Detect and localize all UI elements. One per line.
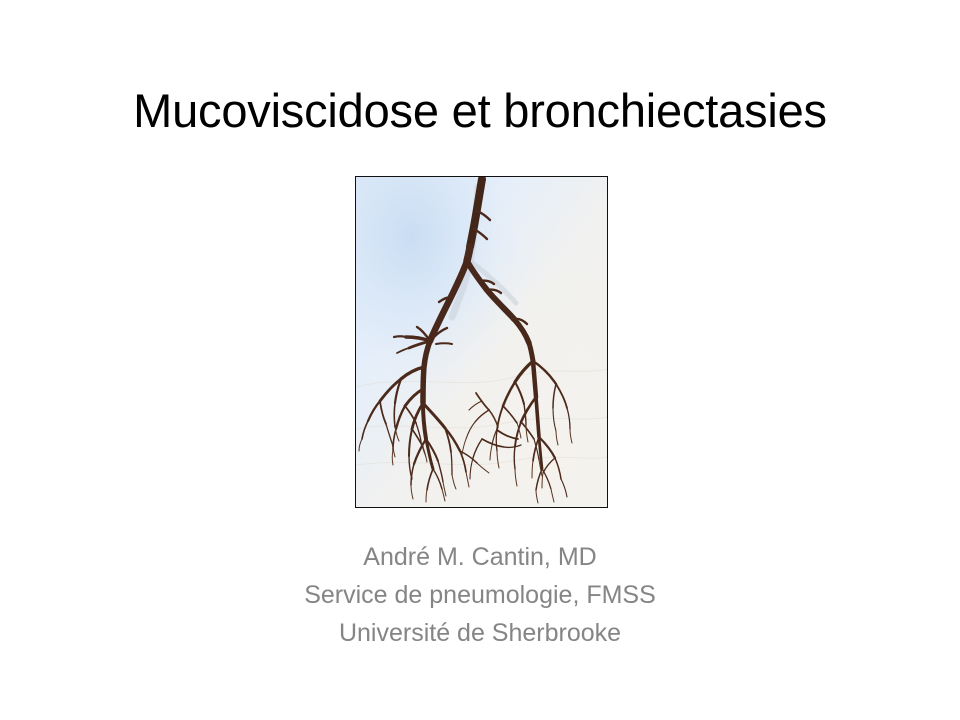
subtitle-line-department: Service de pneumologie, FMSS [80,576,880,614]
subtitle-block: André M. Cantin, MD Service de pneumolog… [80,538,880,652]
title-slide: Mucoviscidose et bronchiectasies [0,0,960,720]
subtitle-line-institution: Université de Sherbrooke [80,614,880,652]
bronchial-tree-illustration [356,177,607,507]
bronchial-tree-cast-photo [355,176,608,508]
page-title: Mucoviscidose et bronchiectasies [60,82,900,140]
subtitle-line-author: André M. Cantin, MD [80,538,880,576]
